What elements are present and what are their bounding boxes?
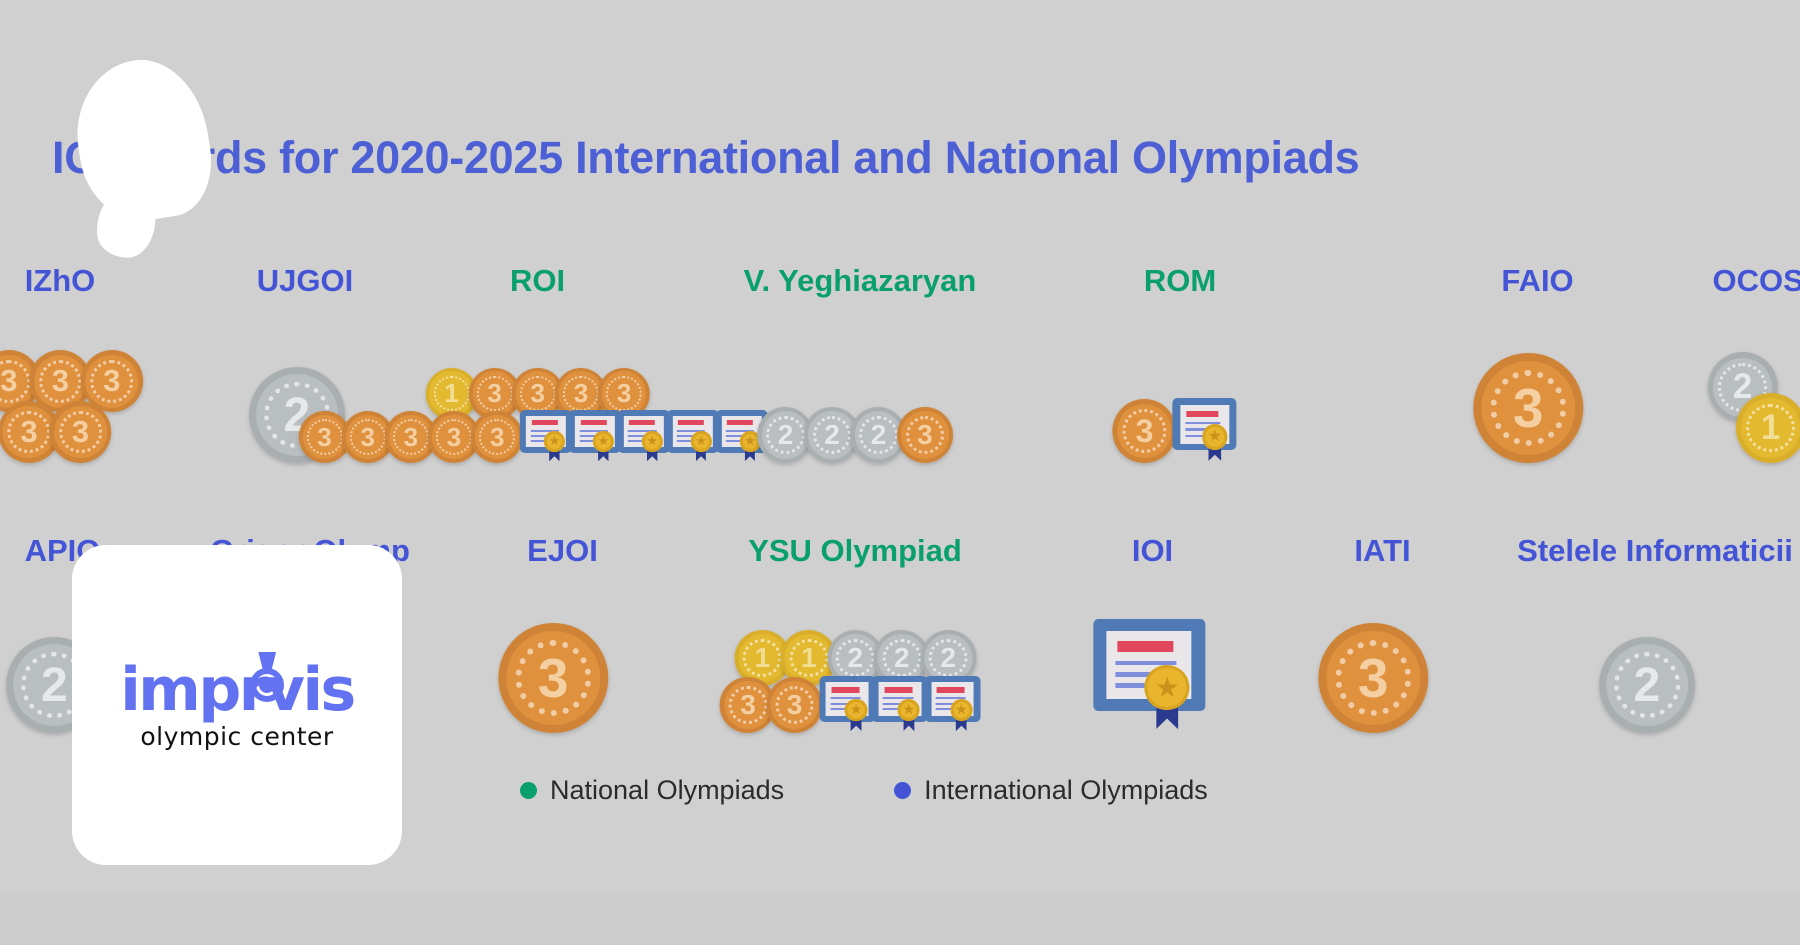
star-icon: ★ (549, 435, 561, 448)
olympiad-label: V. Yeghiazaryan (700, 265, 1020, 296)
certificate-icon: ★ (520, 410, 572, 463)
legend-item: International Olympiads (894, 775, 1208, 806)
bronze-medal-icon: 3 (1112, 399, 1176, 463)
certificate-icon: ★ (1173, 398, 1237, 463)
certificate-icon: ★ (569, 410, 621, 463)
award-row: 3 (1337, 623, 1428, 733)
olympiad-label: Stelele Informaticii (1490, 535, 1800, 566)
award-cluster: 3 (1430, 313, 1645, 463)
star-icon: ★ (903, 703, 915, 717)
star-icon: ★ (850, 703, 862, 717)
bronze-medal-icon: 3 (1318, 623, 1428, 733)
award-cluster: 3 (1275, 583, 1490, 733)
logo-inner: imprvis olympic center (92, 660, 382, 751)
olympiad-label: OCOSI (1655, 265, 1800, 296)
certificate-icon: ★ (872, 676, 928, 733)
legend: National OlympiadsInternational Olympiad… (520, 775, 1208, 806)
award-cluster: 33333 (0, 313, 180, 463)
star-icon: ★ (646, 435, 658, 448)
legend-label: National Olympiads (550, 775, 784, 806)
gold-medal-icon: 1 (1736, 393, 1800, 463)
award-row: 33 (9, 401, 112, 463)
improvis-logo-card[interactable]: imprvis olympic center (72, 545, 402, 865)
star-icon: ★ (955, 703, 967, 717)
logo-wordmark: imprvis (120, 660, 354, 720)
logo-tagline: olympic center (92, 722, 382, 751)
certificate-icon: ★ (618, 410, 670, 463)
legend-dot-blue (894, 782, 911, 799)
olympiad-cell: IZhO33333 (0, 265, 180, 475)
star-icon: ★ (1155, 674, 1180, 702)
bronze-medal-icon: 3 (471, 411, 523, 463)
logo-wordmark-part-1: impr (120, 655, 266, 725)
certificate-icon: ★ (819, 676, 875, 733)
olympiad-label: ROM (1070, 265, 1290, 296)
bronze-medal-icon: 3 (498, 623, 608, 733)
certificate-icon: ★ (924, 676, 980, 733)
star-icon: ★ (598, 435, 610, 448)
olympiad-cell: Stelele Informaticii2 (1490, 535, 1800, 745)
award-cluster: 1122233★★★ (690, 583, 1020, 733)
award-row: 3 (517, 623, 608, 733)
bronze-medal-icon: 3 (49, 401, 111, 463)
award-row: 2 (1615, 637, 1695, 733)
olympiad-cell: V. Yeghiazaryan2223 (700, 265, 1020, 475)
olympiad-cell: YSU Olympiad1122233★★★ (690, 535, 1020, 745)
award-cluster: 1333333333★★★★★ (420, 313, 655, 463)
legend-label: International Olympiads (924, 775, 1208, 806)
award-row: 1 (1747, 393, 1800, 463)
olympiad-cell: EJOI3 (455, 535, 670, 745)
olympiad-label: IOI (1045, 535, 1260, 566)
medal-icon (250, 652, 284, 704)
olympiad-cell: IOI★ (1045, 535, 1260, 745)
olympiad-label: IZhO (0, 265, 180, 296)
olympiad-cell: OCOSI21 (1655, 265, 1800, 475)
bottom-strip (0, 893, 1800, 945)
olympiad-label: EJOI (455, 535, 670, 566)
bronze-medal-icon: 3 (767, 677, 823, 733)
silver-medal-icon: 2 (1599, 637, 1695, 733)
olympiad-cell: ROI1333333333★★★★★ (420, 265, 655, 475)
award-row: 3★ (1123, 398, 1236, 463)
olympiad-label: ROI (420, 265, 655, 296)
legend-dot-green (520, 782, 537, 799)
award-cluster: 3 (455, 583, 670, 733)
award-cluster: 21 (1655, 313, 1800, 463)
cursor-blob-overlay (66, 51, 219, 229)
olympiad-cell: FAIO3 (1430, 265, 1645, 475)
olympiad-cell: ROM3★ (1070, 265, 1290, 475)
bronze-medal-icon: 3 (897, 407, 953, 463)
award-row: 2223 (767, 407, 953, 463)
award-cluster: 2223 (700, 313, 1020, 463)
certificate-icon: ★ (1093, 619, 1205, 733)
page-title: IC Awards for 2020-2025 International an… (52, 132, 1752, 184)
olympiad-label: IATI (1275, 535, 1490, 566)
award-row: 33★★★ (730, 676, 981, 733)
olympiad-label: UJGOI (195, 265, 415, 296)
award-cluster: ★ (1045, 583, 1260, 733)
award-cluster: 2 (1490, 583, 1800, 733)
star-icon: ★ (1208, 429, 1222, 445)
legend-item: National Olympiads (520, 775, 784, 806)
award-row: 33333★★★★★ (307, 410, 767, 463)
award-cluster: 3★ (1070, 313, 1290, 463)
award-row: ★ (1100, 619, 1205, 733)
infographic-canvas: IC Awards for 2020-2025 International an… (0, 0, 1800, 945)
bronze-medal-icon: 3 (1473, 353, 1583, 463)
award-row: 3 (1492, 353, 1583, 463)
olympiad-label: FAIO (1430, 265, 1645, 296)
olympiad-cell: IATI3 (1275, 535, 1490, 745)
olympiad-label: YSU Olympiad (690, 535, 1020, 566)
